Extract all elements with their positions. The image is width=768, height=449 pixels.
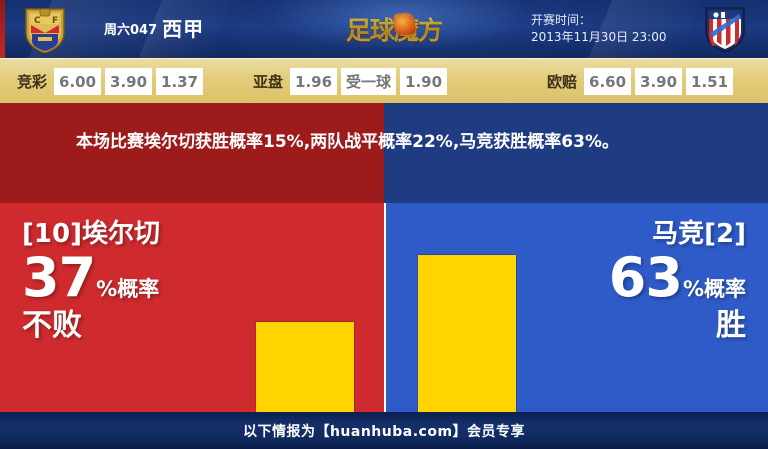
odds-group-oupei: 欧赔 6.60 3.90 1.51 (547, 68, 733, 95)
home-probability-row: 37 %概率 (22, 251, 160, 305)
probability-banner: 本场比赛埃尔切获胜概率15%,两队战平概率22%,马竞获胜概率63%。 (0, 103, 768, 203)
odds-cell[interactable]: 3.90 (105, 68, 152, 95)
footer-membership-note: 以下情报为【huanhuba.com】会员专享 (243, 421, 525, 441)
match-label: 周六047西甲 (104, 13, 204, 42)
svg-text:F: F (52, 16, 58, 26)
home-probability-value: 37 (22, 251, 95, 305)
home-team-name: [10]埃尔切 (22, 219, 160, 249)
match-prediction-graphic: C F 周六047西甲 足球魔方 开赛时间： 2013年11月30日 23:00 (0, 0, 768, 449)
atletico-madrid-crest-icon (703, 5, 747, 53)
away-probability-unit: %概率 (683, 273, 746, 303)
odds-group-title: 竞彩 (17, 71, 47, 92)
away-probability-row: 63 %概率 (609, 251, 746, 305)
odds-cell[interactable]: 1.37 (156, 68, 203, 95)
banner-summary-text: 本场比赛埃尔切获胜概率15%,两队战平概率22%,马竞获胜概率63%。 (76, 127, 706, 157)
odds-cell[interactable]: 1.51 (686, 68, 733, 95)
probability-chart: [10]埃尔切 37 %概率 不败 马竞[2] 63 %概率 胜 (0, 203, 768, 412)
away-outcome-label: 胜 (609, 309, 746, 343)
match-league: 西甲 (162, 17, 204, 41)
header-bar: C F 周六047西甲 足球魔方 开赛时间： 2013年11月30日 23:00 (0, 0, 768, 58)
odds-cell[interactable]: 1.90 (400, 68, 447, 95)
odds-cell[interactable]: 6.60 (584, 68, 631, 95)
odds-group-title: 欧赔 (547, 71, 577, 92)
site-logo-badge-icon (393, 12, 416, 36)
away-team-info: 马竞[2] 63 %概率 胜 (609, 219, 746, 343)
odds-cell[interactable]: 6.00 (54, 68, 101, 95)
svg-text:C: C (34, 16, 41, 26)
away-team-name: 马竞[2] (609, 219, 746, 249)
away-probability-value: 63 (609, 251, 682, 305)
footer-bar: 以下情报为【huanhuba.com】会员专享 (0, 412, 768, 449)
elche-crest-icon: C F (22, 6, 68, 53)
odds-cell-handicap[interactable]: 受一球 (341, 68, 396, 95)
home-team-info: [10]埃尔切 37 %概率 不败 (22, 219, 160, 343)
kickoff-value: 2013年11月30日 23:00 (531, 29, 666, 46)
odds-bar: 竞彩 6.00 3.90 1.37 亚盘 1.96 受一球 1.90 欧赔 6.… (0, 58, 768, 103)
odds-group-yapan: 亚盘 1.96 受一球 1.90 (253, 68, 447, 95)
header-left-accent (0, 0, 5, 58)
site-logo[interactable]: 足球魔方 (336, 9, 452, 49)
odds-group-title: 亚盘 (253, 71, 283, 92)
home-probability-bar (256, 322, 354, 412)
away-team-panel: 马竞[2] 63 %概率 胜 (386, 203, 768, 412)
home-probability-unit: %概率 (96, 273, 159, 303)
match-round: 周六047 (104, 23, 157, 38)
away-probability-bar (418, 255, 516, 412)
odds-cell[interactable]: 1.96 (290, 68, 337, 95)
home-outcome-label: 不败 (22, 309, 160, 343)
odds-group-jingcai: 竞彩 6.00 3.90 1.37 (17, 68, 203, 95)
home-team-panel: [10]埃尔切 37 %概率 不败 (0, 203, 384, 412)
kickoff-label: 开赛时间： (531, 12, 666, 29)
kickoff-info: 开赛时间： 2013年11月30日 23:00 (531, 12, 666, 46)
odds-cell[interactable]: 3.90 (635, 68, 682, 95)
